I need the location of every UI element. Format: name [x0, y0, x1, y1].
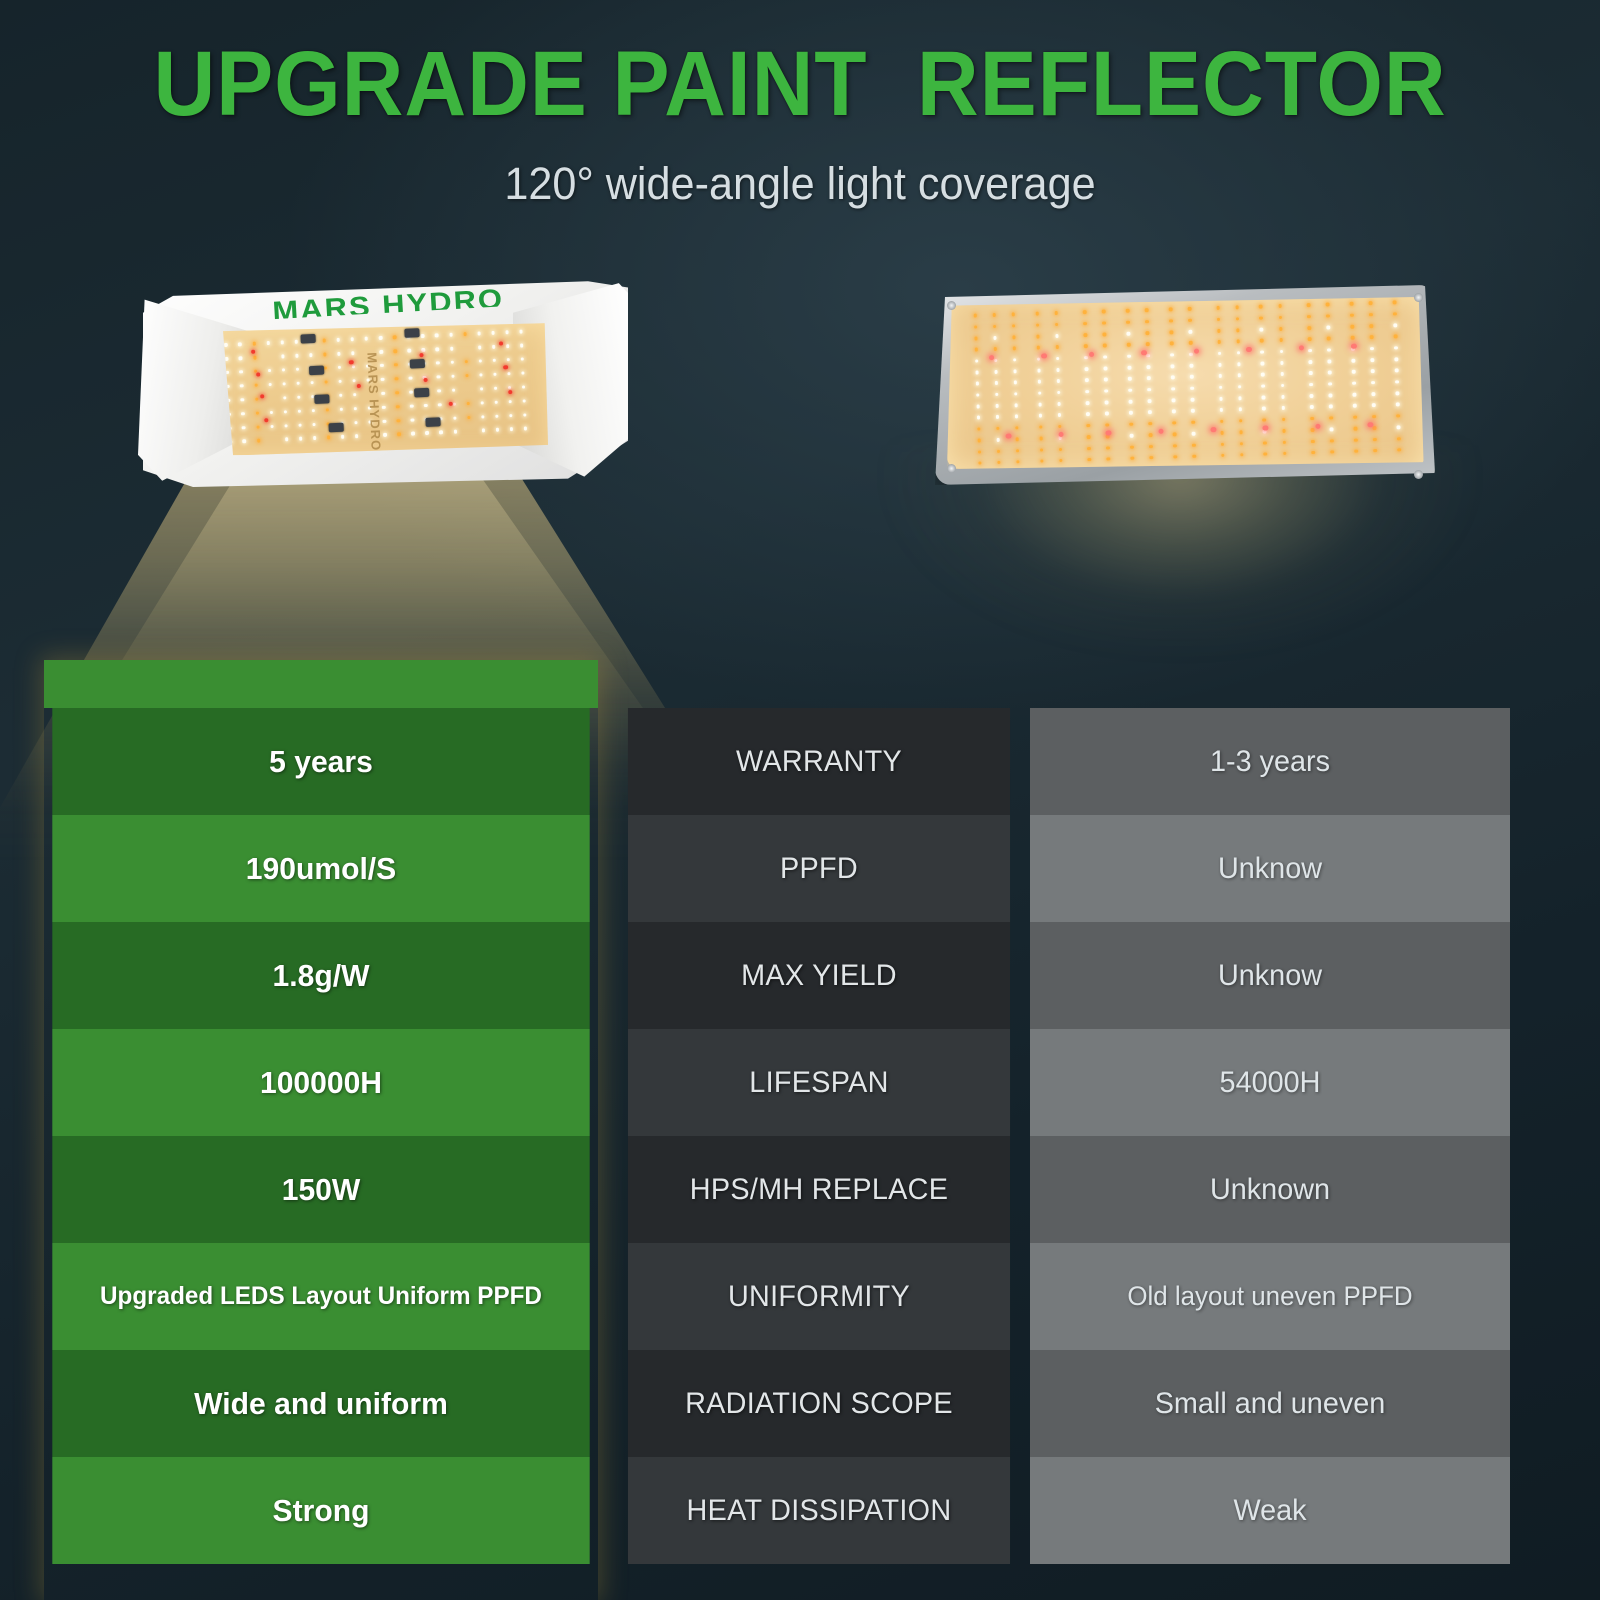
corner-screw-icon	[947, 464, 956, 473]
led-dot	[1280, 350, 1284, 354]
table-cell-feature: LIFESPAN	[628, 1029, 1010, 1136]
led-dot	[1330, 450, 1334, 454]
led-dot	[1260, 328, 1264, 332]
led-dot	[1145, 331, 1149, 335]
led-dot	[1171, 387, 1175, 391]
led-dot	[1354, 438, 1358, 442]
table-cell-feature: MAX YIELD	[628, 922, 1010, 1029]
led-dot	[1307, 303, 1311, 307]
led-dot	[381, 392, 385, 396]
led-dot	[1311, 428, 1315, 432]
led-dot	[264, 418, 268, 422]
led-dot	[976, 405, 980, 409]
led-dot	[992, 313, 996, 317]
led-dot	[1352, 370, 1356, 374]
led-dot	[282, 368, 286, 372]
led-dot	[437, 389, 441, 393]
led-dot	[995, 404, 999, 408]
table-cell-feature: HEAT DISSIPATION	[628, 1457, 1010, 1564]
led-dot	[1372, 404, 1376, 408]
led-dot	[1103, 344, 1107, 348]
led-dot	[1353, 415, 1357, 419]
driver-chip	[309, 365, 324, 375]
led-dot	[1282, 440, 1286, 444]
table-cell-feature: WARRANTY	[628, 708, 1010, 815]
led-dot	[1392, 301, 1396, 305]
led-dot	[1330, 439, 1334, 443]
led-dot	[521, 358, 525, 362]
led-dot	[1221, 454, 1225, 458]
comparison-table: 5 years190umol/S1.8g/W100000H150WUpgrade…	[0, 660, 1600, 1600]
led-dot	[284, 410, 288, 414]
led-dot	[1056, 379, 1060, 383]
corner-screw-icon	[947, 301, 956, 310]
led-dot	[310, 381, 314, 385]
led-dot	[993, 347, 997, 351]
led-dot	[1147, 377, 1151, 381]
led-dot	[355, 435, 359, 439]
led-dot	[496, 428, 500, 432]
led-dot	[1220, 431, 1224, 435]
led-dot	[1036, 346, 1040, 350]
led-dot	[382, 406, 386, 410]
led-dot	[1173, 444, 1177, 448]
led-dot	[1040, 459, 1044, 463]
led-dot	[1011, 313, 1015, 317]
led-dot	[1149, 445, 1153, 449]
led-dot	[479, 373, 483, 377]
led-dot	[1189, 341, 1193, 345]
led-dot	[353, 393, 357, 397]
led-dot	[1172, 421, 1176, 425]
led-dot	[1394, 357, 1398, 361]
led-dot	[323, 353, 327, 357]
led-dot	[354, 407, 358, 411]
led-dot	[1102, 321, 1106, 325]
led-dot	[481, 415, 485, 419]
led-dot	[467, 416, 471, 420]
led-dot	[1145, 308, 1149, 312]
led-dot	[1239, 419, 1243, 423]
led-dot	[1309, 383, 1313, 387]
led-dot	[352, 365, 356, 369]
table-cell-ours: Upgraded LEDS Layout Uniform PPFD	[52, 1243, 589, 1350]
led-dot	[1041, 353, 1047, 359]
led-dot	[994, 359, 998, 363]
led-dot	[465, 374, 469, 378]
led-dot	[522, 399, 526, 403]
led-dot	[1038, 414, 1042, 418]
led-dot	[1308, 349, 1312, 353]
led-dot	[493, 373, 497, 377]
led-panel-left: MARS HYDRO	[213, 323, 548, 455]
led-dot	[523, 413, 527, 417]
led-dot	[1260, 339, 1264, 343]
led-dot	[1057, 391, 1061, 395]
led-dot	[269, 411, 273, 415]
led-dot	[1103, 332, 1107, 336]
table-cell-theirs: 54000H	[1030, 1029, 1510, 1136]
led-dot	[1263, 425, 1269, 431]
infographic-page: UPGRADE PAINT REFLECTOR 120° wide-angle …	[0, 0, 1600, 1600]
led-dot	[1012, 324, 1016, 328]
led-dot	[1130, 457, 1134, 461]
led-dot	[280, 341, 284, 345]
led-dot	[252, 342, 256, 346]
led-dot	[1190, 398, 1194, 402]
led-dot	[1105, 423, 1109, 427]
led-dot	[437, 375, 441, 379]
led-dot	[411, 418, 415, 422]
led-dot	[436, 361, 440, 365]
led-dot	[1326, 325, 1330, 329]
led-dot	[1371, 392, 1375, 396]
table-cell-feature: UNIFORMITY	[628, 1243, 1010, 1350]
led-dot	[323, 339, 327, 343]
led-dot	[1015, 437, 1019, 441]
led-dot	[1014, 381, 1018, 385]
led-dot	[1236, 317, 1240, 321]
driver-chip	[409, 360, 424, 370]
product-showcase: MARS HYDRO MARS HYDRO	[0, 255, 1600, 675]
led-dot	[1130, 434, 1134, 438]
led-dot	[243, 440, 247, 444]
led-dot	[448, 402, 452, 406]
led-dot	[1084, 356, 1088, 360]
led-dot	[1330, 428, 1334, 432]
led-dot	[1395, 380, 1399, 384]
led-dot	[478, 346, 482, 350]
led-dot	[1126, 332, 1130, 336]
led-dot	[1054, 311, 1058, 315]
led-dot	[1370, 335, 1374, 339]
led-dot	[1085, 378, 1089, 382]
led-dot	[1352, 381, 1356, 385]
led-dot	[1240, 442, 1244, 446]
table-cell-ours: 5 years	[52, 708, 589, 815]
led-dot	[1083, 310, 1087, 314]
led-dot	[1370, 358, 1374, 362]
led-dot	[1307, 326, 1311, 330]
led-dot	[1037, 380, 1041, 384]
led-dot	[1129, 422, 1133, 426]
led-panel-right	[947, 297, 1424, 469]
led-dot	[379, 350, 383, 354]
led-dot	[1351, 336, 1355, 340]
led-dot	[1148, 399, 1152, 403]
led-dot	[508, 400, 512, 404]
led-dot	[257, 439, 261, 443]
led-dot	[1236, 328, 1240, 332]
led-dot	[1311, 439, 1315, 443]
led-dot	[338, 366, 342, 370]
led-dot	[295, 354, 299, 358]
table-cell-ours: 150W	[52, 1136, 589, 1243]
led-dot	[270, 425, 274, 429]
led-dot	[1194, 348, 1200, 354]
led-dot	[1085, 390, 1089, 394]
led-dot	[285, 438, 289, 442]
led-dot	[283, 396, 287, 400]
led-dot	[1189, 352, 1193, 356]
led-dot	[1016, 460, 1020, 464]
led-dot	[409, 391, 413, 395]
led-dot	[522, 385, 526, 389]
led-dot	[508, 386, 512, 390]
driver-chip	[405, 328, 420, 338]
led-dot	[1394, 346, 1398, 350]
led-dot	[1310, 417, 1314, 421]
led-dot	[495, 414, 499, 418]
led-dot	[1103, 355, 1107, 359]
corner-screw-icon	[1414, 293, 1423, 302]
led-dot	[978, 461, 982, 465]
led-dot	[1171, 376, 1175, 380]
led-dot	[282, 382, 286, 386]
led-dot	[1220, 420, 1224, 424]
led-dot	[397, 419, 401, 423]
led-dot	[1055, 334, 1059, 338]
led-dot	[1328, 359, 1332, 363]
led-dot	[1263, 418, 1267, 422]
led-dot	[240, 384, 244, 388]
led-dot	[994, 381, 998, 385]
led-dot	[480, 387, 484, 391]
led-dot	[1261, 362, 1265, 366]
column-theirs: 1-3 yearsUnknowUnknow54000HUnknownOld la…	[1020, 708, 1520, 1600]
product-image-old-panel	[935, 285, 1435, 485]
led-dot	[1128, 377, 1132, 381]
led-dot	[1259, 305, 1263, 309]
led-dot	[396, 405, 400, 409]
led-dot	[1104, 378, 1108, 382]
led-dot	[1086, 413, 1090, 417]
led-dot	[1189, 364, 1193, 368]
led-dot	[1279, 338, 1283, 342]
led-dot	[1326, 303, 1330, 307]
led-dot-array-left: MARS HYDRO	[213, 323, 548, 455]
led-dot	[312, 423, 316, 427]
led-dot	[1146, 354, 1150, 358]
led-dot	[349, 360, 353, 364]
led-dot	[1219, 397, 1223, 401]
led-dot	[1087, 447, 1091, 451]
led-dot	[266, 341, 270, 345]
led-dot	[1084, 344, 1088, 348]
led-dot	[353, 379, 357, 383]
led-dot	[1237, 374, 1241, 378]
page-title: UPGRADE PAINT REFLECTOR	[56, 38, 1544, 132]
led-dot	[1036, 323, 1040, 327]
led-dot	[1329, 416, 1333, 420]
led-dot	[1282, 418, 1286, 422]
led-dot	[976, 393, 980, 397]
led-dot	[1037, 369, 1041, 373]
led-dot	[1016, 449, 1020, 453]
led-dot	[298, 423, 302, 427]
led-dot	[506, 344, 510, 348]
led-dot	[1311, 451, 1315, 455]
led-dot	[1158, 428, 1164, 434]
led-dot	[256, 372, 260, 376]
led-dot	[351, 338, 355, 342]
led-dot	[1279, 327, 1283, 331]
led-dot	[1037, 357, 1041, 361]
led-dot	[1191, 421, 1195, 425]
led-dot	[491, 331, 495, 335]
led-dot	[1058, 425, 1062, 429]
led-dot	[1086, 424, 1090, 428]
ours-column-header	[44, 660, 598, 708]
led-dot	[452, 389, 456, 393]
led-dot	[1127, 343, 1131, 347]
led-dot	[1393, 335, 1397, 339]
led-dot	[1246, 346, 1252, 352]
led-dot	[975, 382, 979, 386]
led-dot	[524, 427, 528, 431]
led-dot	[1369, 301, 1373, 305]
driver-chip	[414, 388, 429, 398]
table-cell-theirs: Small and uneven	[1030, 1350, 1510, 1457]
led-dot	[1262, 396, 1266, 400]
table-cell-theirs: Unknow	[1030, 815, 1510, 922]
led-dot	[435, 334, 439, 338]
led-dot	[421, 334, 425, 338]
led-dot	[424, 378, 428, 382]
led-dot	[1217, 329, 1221, 333]
led-dot	[480, 401, 484, 405]
led-dot	[1281, 395, 1285, 399]
led-dot	[1218, 352, 1222, 356]
led-dot	[1235, 306, 1239, 310]
led-dot	[1039, 425, 1043, 429]
led-dot	[1170, 353, 1174, 357]
led-dot	[1057, 413, 1061, 417]
led-dot	[1145, 320, 1149, 324]
led-dot	[453, 430, 457, 434]
led-dot	[1014, 392, 1018, 396]
led-dot	[463, 332, 467, 336]
led-dot	[1395, 391, 1399, 395]
led-dot	[394, 363, 398, 367]
led-dot	[351, 351, 355, 355]
led-dot	[1238, 408, 1242, 412]
driver-chip	[301, 334, 316, 344]
led-dot	[1218, 363, 1222, 367]
table-cell-theirs: 1-3 years	[1030, 708, 1510, 815]
led-dot	[521, 372, 525, 376]
led-dot	[977, 439, 981, 443]
led-dot	[294, 340, 298, 344]
led-dot	[1190, 375, 1194, 379]
led-dot	[1373, 426, 1377, 430]
led-dot	[492, 345, 496, 349]
led-dot	[505, 331, 509, 335]
led-dot	[1014, 403, 1018, 407]
led-dot	[1281, 384, 1285, 388]
led-dot	[1012, 335, 1016, 339]
page-subtitle: 120° wide-angle light coverage	[32, 158, 1568, 210]
led-dot	[1039, 437, 1043, 441]
led-dot	[520, 344, 524, 348]
led-dot	[253, 356, 257, 360]
led-dot	[1369, 313, 1373, 317]
led-dot	[1040, 448, 1044, 452]
panel-brand-text: MARS HYDRO	[364, 352, 383, 451]
led-dot	[340, 408, 344, 412]
led-dot	[395, 377, 399, 381]
led-dot	[452, 402, 456, 406]
led-dot	[1188, 307, 1192, 311]
led-dot	[255, 398, 259, 402]
led-dot	[1059, 447, 1063, 451]
led-dot	[1146, 342, 1150, 346]
led-dot	[268, 383, 272, 387]
led-dot	[450, 347, 454, 351]
driver-chip	[314, 394, 329, 404]
led-dot	[1015, 426, 1019, 430]
led-dot	[337, 352, 341, 356]
led-dot	[974, 348, 978, 352]
led-dot	[1396, 403, 1400, 407]
led-dot	[492, 359, 496, 363]
led-dot	[260, 395, 264, 399]
led-dot	[996, 438, 1000, 442]
led-dot	[1147, 365, 1151, 369]
led-dot	[297, 396, 301, 400]
led-dot	[977, 427, 981, 431]
led-dot	[507, 358, 511, 362]
led-dot	[1170, 342, 1174, 346]
led-dot	[1102, 310, 1106, 314]
driver-chip	[425, 417, 440, 427]
led-dot	[1260, 350, 1264, 354]
led-dot	[1188, 318, 1192, 322]
led-dot	[1104, 367, 1108, 371]
led-dot	[1013, 358, 1017, 362]
led-dot	[466, 402, 470, 406]
column-feature-names: WARRANTYPPFDMAX YIELDLIFESPANHPS/MH REPL…	[620, 708, 1018, 1600]
led-dot	[312, 409, 316, 413]
led-dot	[354, 421, 358, 425]
led-dot	[1352, 393, 1356, 397]
driver-chip	[328, 423, 343, 433]
led-dot	[1129, 400, 1133, 404]
led-dot	[1353, 427, 1357, 431]
led-dot	[1083, 322, 1087, 326]
led-dot	[1370, 347, 1374, 351]
led-dot	[1353, 404, 1357, 408]
led-dot	[1315, 423, 1321, 429]
led-dot	[974, 325, 978, 329]
led-dot	[1350, 302, 1354, 306]
led-dot	[436, 348, 440, 352]
led-dot	[381, 378, 385, 382]
led-dot	[1087, 435, 1091, 439]
led-dot	[337, 338, 341, 342]
led-dot	[997, 449, 1001, 453]
led-dot	[1282, 429, 1286, 433]
table-cell-ours: Strong	[52, 1457, 589, 1564]
led-dot	[324, 367, 328, 371]
table-cell-theirs: Weak	[1030, 1457, 1510, 1564]
led-dot	[994, 370, 998, 374]
led-dot	[1172, 410, 1176, 414]
led-dot	[975, 371, 979, 375]
led-dot	[395, 391, 399, 395]
led-dot	[499, 341, 503, 345]
led-dot	[439, 431, 443, 435]
